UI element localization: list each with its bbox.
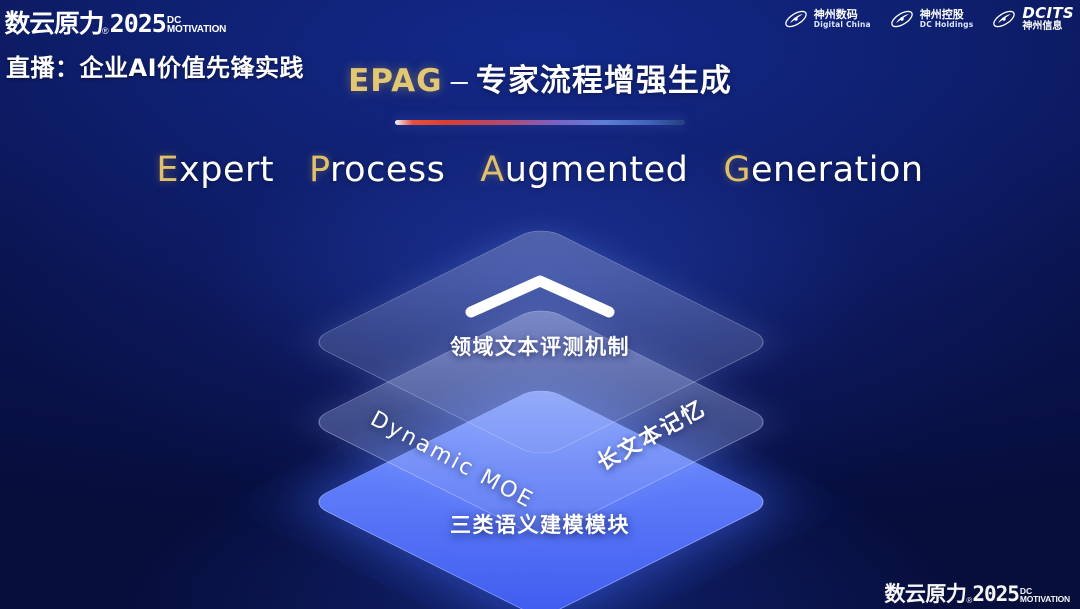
footer-motivation-text: MOTIVATION (1020, 596, 1070, 604)
logo-en-dcits: DCITS (1022, 6, 1074, 21)
logo-text-dc-holdings: 神州控股 DC Holdings (920, 9, 974, 28)
partner-logo-group: 神州数码 Digital China 神州控股 DC Holdings (783, 6, 1074, 32)
brand-motivation-text: MOTIVATION (167, 25, 226, 34)
swirl-icon (783, 8, 809, 30)
logo-en-dc-holdings: DC Holdings (920, 21, 974, 29)
logo-cn-dcits: 神州信息 (1022, 21, 1074, 32)
footer-brand-year: 2025 (972, 584, 1019, 605)
live-session-title: 直播：企业AI价值先锋实践 (6, 48, 304, 83)
layer-stack-diagram: 领域文本评测机制 Dynamic MOE 长文本记忆 三类语义建模模块 (0, 0, 1080, 609)
swirl-icon (889, 8, 915, 30)
logo-text-digital-china: 神州数码 Digital China (814, 9, 871, 28)
brand-dc-motivation: DC MOTIVATION (167, 16, 226, 36)
brand-name-cn: 数云原力 (5, 11, 104, 36)
swirl-icon (991, 8, 1017, 30)
header-bar: 数云原力 ® 2025 DC MOTIVATION 直播：企业AI价值先锋实践 … (0, 0, 1080, 44)
logo-dc-holdings: 神州控股 DC Holdings (889, 8, 974, 30)
chevron-up-icon (463, 272, 617, 320)
brand-year: 2025 (110, 11, 166, 36)
logo-dcits: DCITS 神州信息 (991, 6, 1074, 32)
brand-logo: 数云原力 ® 2025 DC MOTIVATION (6, 2, 226, 36)
title-divider (395, 120, 685, 125)
footer-watermark: 数云原力 ® 2025 DC MOTIVATION (884, 584, 1070, 605)
logo-digital-china: 神州数码 Digital China (783, 8, 871, 30)
logo-en-digital-china: Digital China (814, 21, 871, 29)
slide-canvas: 数云原力 ® 2025 DC MOTIVATION 直播：企业AI价值先锋实践 … (0, 0, 1080, 609)
footer-brand-name-cn: 数云原力 (884, 584, 966, 605)
logo-text-dcits: DCITS 神州信息 (1022, 6, 1074, 32)
footer-dc-motivation: DC MOTIVATION (1020, 588, 1070, 605)
